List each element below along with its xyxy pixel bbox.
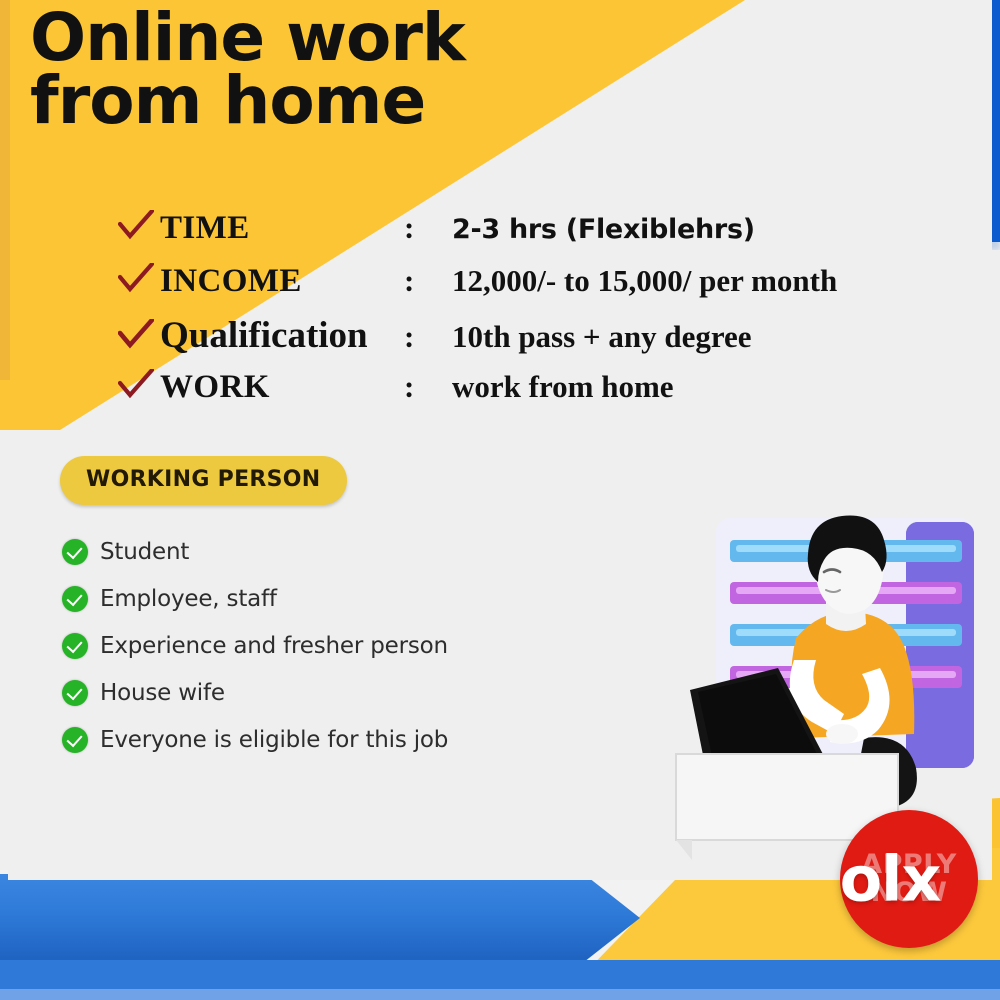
olx-logo-text: olx bbox=[802, 843, 978, 916]
detail-label: INCOME bbox=[160, 263, 404, 300]
detail-label: Qualification bbox=[160, 314, 404, 357]
detail-label: TIME bbox=[160, 210, 404, 247]
red-check-icon bbox=[118, 319, 160, 349]
green-check-icon bbox=[62, 539, 88, 565]
olx-watermark: APPLY NOW olx bbox=[840, 810, 978, 948]
green-check-icon bbox=[62, 727, 88, 753]
blue-banner-bottom bbox=[0, 874, 650, 962]
red-check-icon bbox=[118, 369, 160, 399]
list-item-label: Experience and fresher person bbox=[100, 633, 448, 659]
detail-row: Qualification : 10th pass + any degree bbox=[118, 314, 998, 367]
list-item: Student bbox=[62, 528, 448, 575]
red-check-icon bbox=[118, 210, 160, 240]
detail-row: WORK : work from home bbox=[118, 367, 998, 420]
list-item-label: Everyone is eligible for this job bbox=[100, 727, 448, 753]
detail-value: work from home bbox=[452, 369, 674, 405]
page-title: Online work from home bbox=[30, 6, 650, 133]
detail-value: 2-3 hrs (Flexiblehrs) bbox=[452, 214, 755, 245]
detail-row: TIME : 2-3 hrs (Flexiblehrs) bbox=[118, 208, 998, 261]
detail-value: 10th pass + any degree bbox=[452, 319, 752, 355]
detail-row: INCOME : 12,000/- to 15,000/ per month bbox=[118, 261, 998, 314]
yellow-edge-stripe bbox=[0, 0, 10, 380]
green-check-icon bbox=[62, 633, 88, 659]
green-check-icon bbox=[62, 680, 88, 706]
list-item: House wife bbox=[62, 669, 448, 716]
list-item-label: Student bbox=[100, 539, 189, 565]
poster-canvas: Online work from home TIME : 2-3 hrs (Fl… bbox=[0, 0, 1000, 1000]
headline-line-2: from home bbox=[30, 69, 650, 132]
working-person-badge: WORKING PERSON bbox=[60, 456, 347, 505]
list-item: Everyone is eligible for this job bbox=[62, 716, 448, 763]
red-check-icon bbox=[118, 263, 160, 293]
detail-colon: : bbox=[404, 210, 452, 246]
detail-colon: : bbox=[404, 319, 452, 355]
list-item: Employee, staff bbox=[62, 575, 448, 622]
eligibility-list: Student Employee, staff Experience and f… bbox=[62, 528, 448, 763]
detail-value: 12,000/- to 15,000/ per month bbox=[452, 263, 837, 299]
job-details-table: TIME : 2-3 hrs (Flexiblehrs) INCOME : 12… bbox=[118, 208, 998, 420]
green-check-icon bbox=[62, 586, 88, 612]
blue-bottom-strip bbox=[0, 960, 1000, 1000]
list-item-label: Employee, staff bbox=[100, 586, 277, 612]
detail-colon: : bbox=[404, 369, 452, 405]
list-item: Experience and fresher person bbox=[62, 622, 448, 669]
detail-label: WORK bbox=[160, 369, 404, 406]
list-item-label: House wife bbox=[100, 680, 225, 706]
detail-colon: : bbox=[404, 263, 452, 299]
